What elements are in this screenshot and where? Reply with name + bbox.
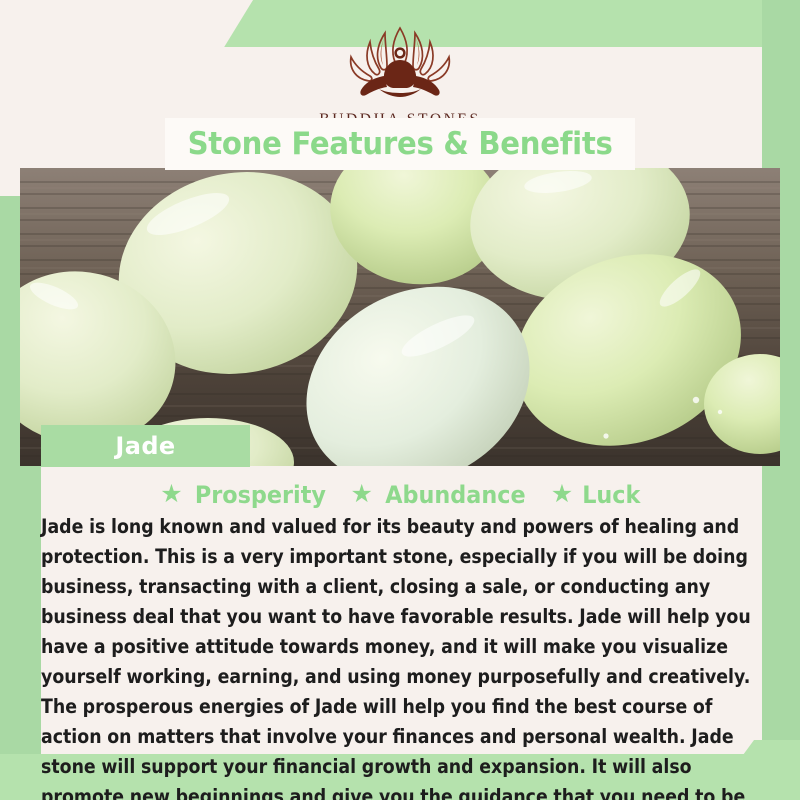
star-icon: ★ xyxy=(350,482,372,507)
stone-info-poster: BUDDHA STONES Stone Features & Benefits xyxy=(0,0,800,800)
star-icon: ★ xyxy=(160,482,182,507)
page-title: Stone Features & Benefits xyxy=(188,126,613,162)
benefit-label: Prosperity xyxy=(195,481,326,509)
benefit-label: Luck xyxy=(582,481,640,509)
lotus-meditation-icon xyxy=(0,24,800,107)
benefit-abundance: ★ Abundance xyxy=(350,481,530,509)
brand-block: BUDDHA STONES xyxy=(0,24,800,129)
star-icon: ★ xyxy=(551,482,573,507)
benefit-prosperity: ★ Prosperity xyxy=(160,481,330,509)
benefits-row: ★ Prosperity ★ Abundance ★ Luck xyxy=(41,478,762,512)
stone-description: Jade is long known and valued for its be… xyxy=(41,512,762,800)
description-block: Jade is long known and valued for its be… xyxy=(41,512,762,800)
stone-name-band: Jade xyxy=(41,425,250,467)
stone-name: Jade xyxy=(115,432,175,460)
title-panel: Stone Features & Benefits xyxy=(165,118,635,170)
jade-tumbled-stones-photo xyxy=(20,168,780,466)
benefit-label: Abundance xyxy=(385,481,525,509)
benefit-luck: ★ Luck xyxy=(551,481,643,509)
